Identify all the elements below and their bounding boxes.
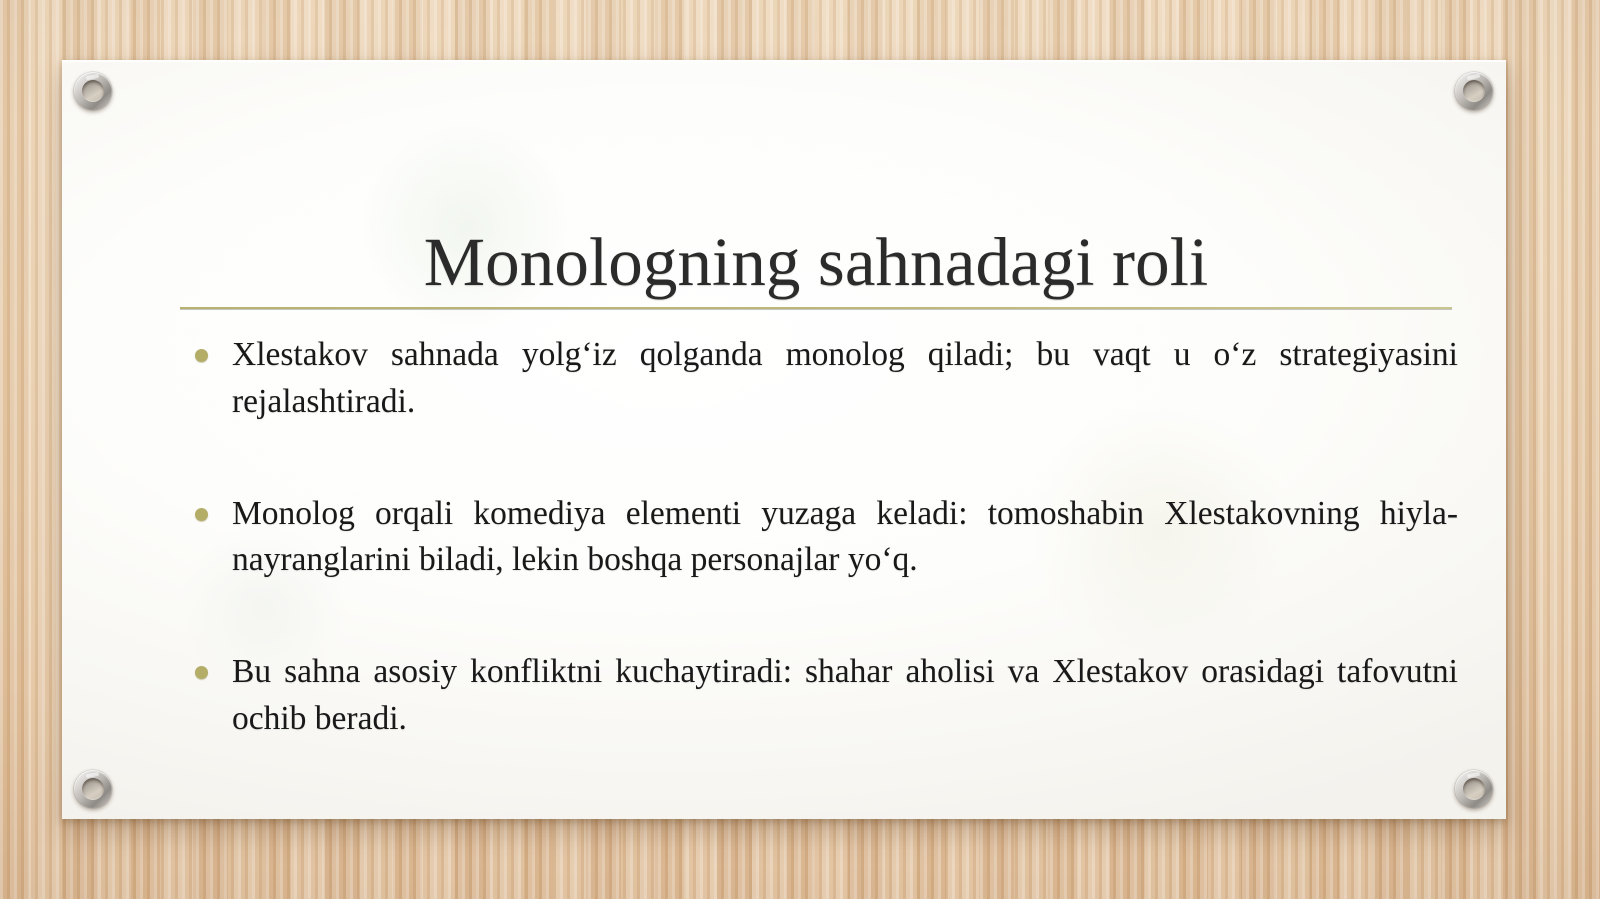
screw-bottom-right-icon (1455, 770, 1493, 808)
title-divider (180, 307, 1452, 309)
screw-top-left-icon (74, 72, 112, 110)
bullet-dot-icon (195, 666, 208, 679)
bullet-list: Xlestakov sahnada yolgʻiz qolganda monol… (178, 332, 1458, 789)
bullet-text: Xlestakov sahnada yolgʻiz qolganda monol… (232, 332, 1458, 425)
bullet-item: Xlestakov sahnada yolgʻiz qolganda monol… (178, 332, 1458, 472)
bullet-dot-icon (195, 349, 208, 362)
slide-content: Monologning sahnadagi roli Xlestakov sah… (62, 60, 1506, 819)
slide-title: Monologning sahnadagi roli (180, 228, 1452, 297)
screw-top-right-icon (1455, 72, 1493, 110)
bullet-dot-icon (195, 508, 208, 521)
bullet-item: Monolog orqali komediya elementi yuzaga … (178, 491, 1458, 631)
bullet-text: Monolog orqali komediya elementi yuzaga … (232, 491, 1458, 584)
screw-bottom-left-icon (74, 770, 112, 808)
bullet-item: Bu sahna asosiy konfliktni kuchaytiradi:… (178, 649, 1458, 789)
bullet-text: Bu sahna asosiy konfliktni kuchaytiradi:… (232, 649, 1458, 742)
